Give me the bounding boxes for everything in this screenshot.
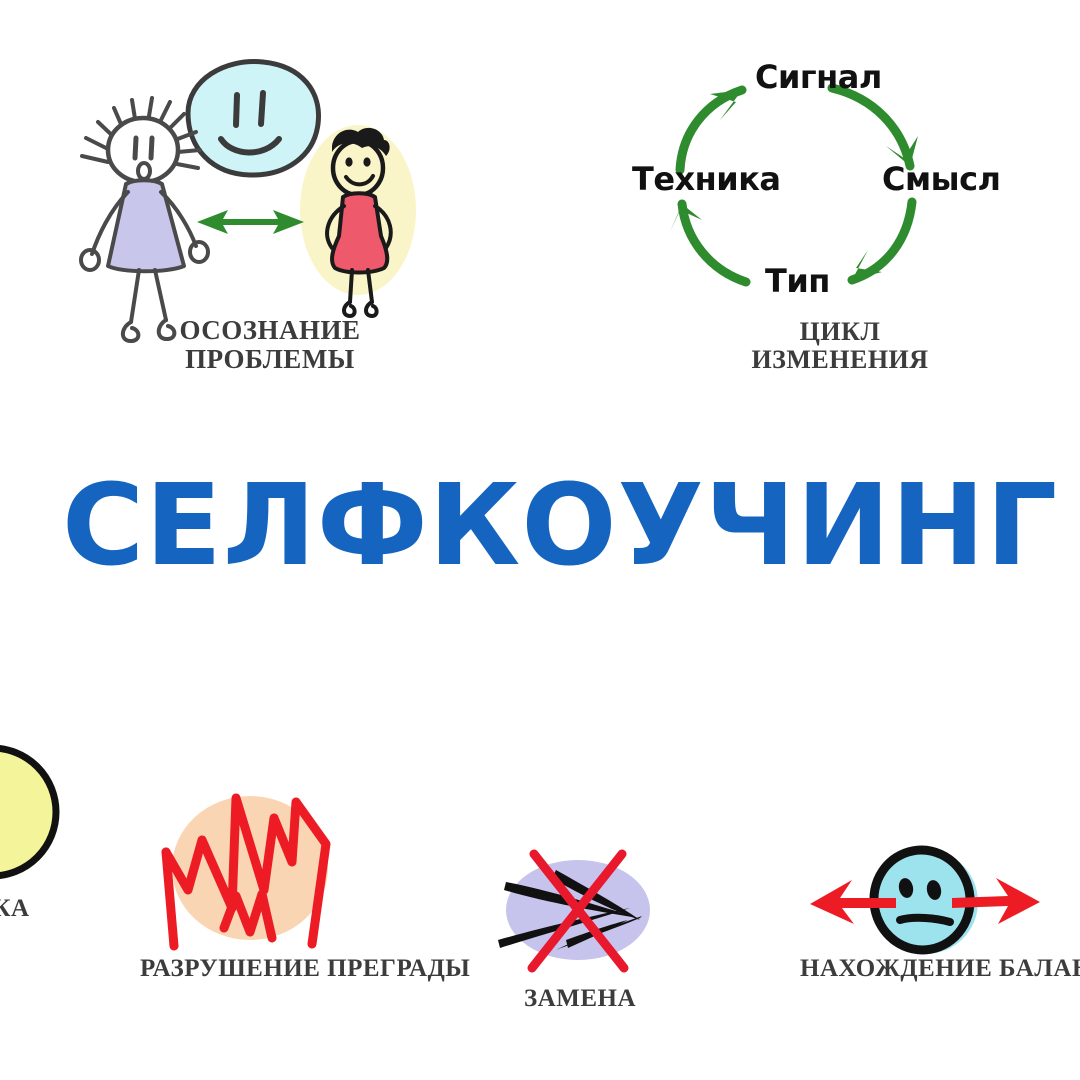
infographic-canvas: ОСОЗНАНИЕ ПРОБЛЕМЫ Сигнал Смысл — [0, 0, 1080, 1080]
blue-smiley-face-icon — [188, 62, 319, 176]
page-title: СЕЛФКОУЧИНГ — [62, 470, 1058, 582]
cycle-node-technique: Техника — [632, 160, 781, 198]
neutral-face-with-arrows-icon — [800, 840, 1050, 970]
cycle-node-type: Тип — [765, 262, 830, 300]
technique-caption-line1: КА — [0, 895, 30, 922]
method-block-break-barrier — [140, 780, 360, 1040]
method-caption-technique: КА — [0, 895, 86, 922]
method-caption-find-balance: НАХОЖДЕНИЕ БАЛАНСА — [800, 955, 1050, 982]
balance-caption-line1: НАХОЖДЕНИЕ — [800, 955, 992, 982]
awareness-caption: ОСОЗНАНИЕ ПРОБЛЕМЫ — [60, 316, 480, 374]
crossed-out-tangle-icon — [470, 840, 690, 990]
balance-caption-line2: БАЛАНСА — [999, 955, 1080, 982]
method-caption-break-barrier: РАЗРУШЕНИЕ ПРЕГРАДЫ — [140, 955, 360, 982]
double-headed-arrow-icon — [197, 210, 304, 234]
red-shatter-icon — [140, 780, 360, 960]
cycle-node-meaning: Смысл — [882, 160, 1000, 198]
method-caption-replace: ЗАМЕНА — [470, 985, 690, 1012]
break-caption-line1: РАЗРУШЕНИЕ — [140, 955, 320, 982]
method-block-technique — [0, 740, 86, 1000]
cycle-caption-line2: ИЗМЕНЕНИЯ — [620, 346, 1060, 374]
worried-stick-figure-icon — [81, 98, 208, 341]
method-block-find-balance — [800, 840, 1050, 1040]
change-cycle-block: Сигнал Смысл Тип Техника — [620, 40, 1060, 330]
happy-stick-figure-icon — [300, 125, 416, 316]
replace-caption-line1: ЗАМЕНА — [524, 985, 636, 1012]
break-caption-line2: ПРЕГРАДЫ — [327, 955, 470, 982]
awareness-caption-line2: ПРОБЛЕМЫ — [60, 345, 480, 374]
awareness-caption-line1: ОСОЗНАНИЕ — [60, 316, 480, 345]
cycle-caption: ЦИКЛ ИЗМЕНЕНИЯ — [620, 318, 1060, 374]
yellow-circle-icon — [0, 740, 86, 900]
cycle-caption-line1: ЦИКЛ — [620, 318, 1060, 346]
cycle-node-signal: Сигнал — [755, 58, 882, 96]
